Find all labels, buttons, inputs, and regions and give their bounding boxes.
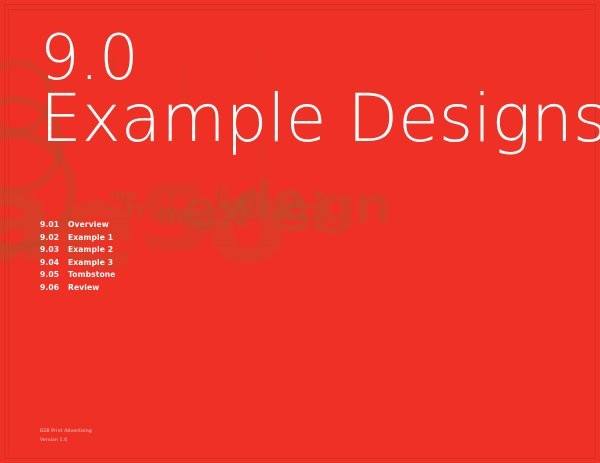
footer-version: Version 1.0 bbox=[40, 437, 92, 445]
list-item-number: 9.04 bbox=[40, 258, 68, 267]
list-item-number: 9.03 bbox=[40, 245, 68, 254]
ghost-fragment: m bbox=[158, 202, 185, 228]
ghost-fragment: r bbox=[240, 200, 253, 226]
list-item-label: Example 1 bbox=[68, 233, 113, 242]
list-item[interactable]: 9.04 Example 3 bbox=[40, 258, 116, 271]
table-of-contents: 9.01 Overview 9.02 Example 1 9.03 Exampl… bbox=[40, 220, 116, 296]
page-title: 9.0 Example Designs bbox=[40, 26, 600, 153]
ghost-fragment: g bbox=[196, 206, 215, 232]
list-item-label: Example 2 bbox=[68, 245, 113, 254]
footer-document-name: B2B Print Advertising bbox=[40, 428, 92, 436]
ghost-bar bbox=[122, 196, 126, 212]
ghost-bar bbox=[252, 186, 256, 212]
list-item-number: 9.01 bbox=[40, 220, 68, 229]
list-item[interactable]: 9.06 Review bbox=[40, 283, 116, 296]
footer: B2B Print Advertising Version 1.0 bbox=[40, 428, 92, 445]
ghost-fragment: ex bbox=[182, 184, 249, 236]
ghost-fragment: t bbox=[272, 208, 284, 234]
ghost-bar bbox=[292, 192, 296, 210]
ghost-fragment: mp bbox=[110, 188, 136, 203]
slide-canvas: a e s o ex de si gn n m g r t c mp le 9.… bbox=[0, 0, 600, 463]
list-item[interactable]: 9.03 Example 2 bbox=[40, 245, 116, 258]
ghost-bar bbox=[170, 190, 174, 212]
list-item-label: Review bbox=[68, 283, 99, 292]
list-item-label: Example 3 bbox=[68, 258, 113, 267]
list-item-label: Tombstone bbox=[68, 270, 116, 279]
ghost-fragment: c bbox=[300, 198, 315, 224]
ghost-fragment: le bbox=[214, 184, 229, 199]
list-item[interactable]: 9.01 Overview bbox=[40, 220, 116, 233]
ghost-fragment: o bbox=[206, 162, 284, 282]
list-item-number: 9.02 bbox=[40, 233, 68, 242]
title-text: Example Designs bbox=[40, 85, 600, 152]
ghost-fragment: si bbox=[280, 188, 327, 240]
ghost-bar bbox=[216, 192, 220, 212]
ghost-fragment: de bbox=[236, 176, 307, 228]
ghost-fragment: gn bbox=[318, 180, 390, 232]
list-item-number: 9.06 bbox=[40, 283, 68, 292]
list-item[interactable]: 9.05 Tombstone bbox=[40, 270, 116, 283]
ghost-fragment: n bbox=[126, 196, 145, 222]
ghost-fragment: s bbox=[138, 150, 205, 270]
list-item-number: 9.05 bbox=[40, 270, 68, 279]
list-item-label: Overview bbox=[68, 220, 109, 229]
list-item[interactable]: 9.02 Example 1 bbox=[40, 233, 116, 246]
